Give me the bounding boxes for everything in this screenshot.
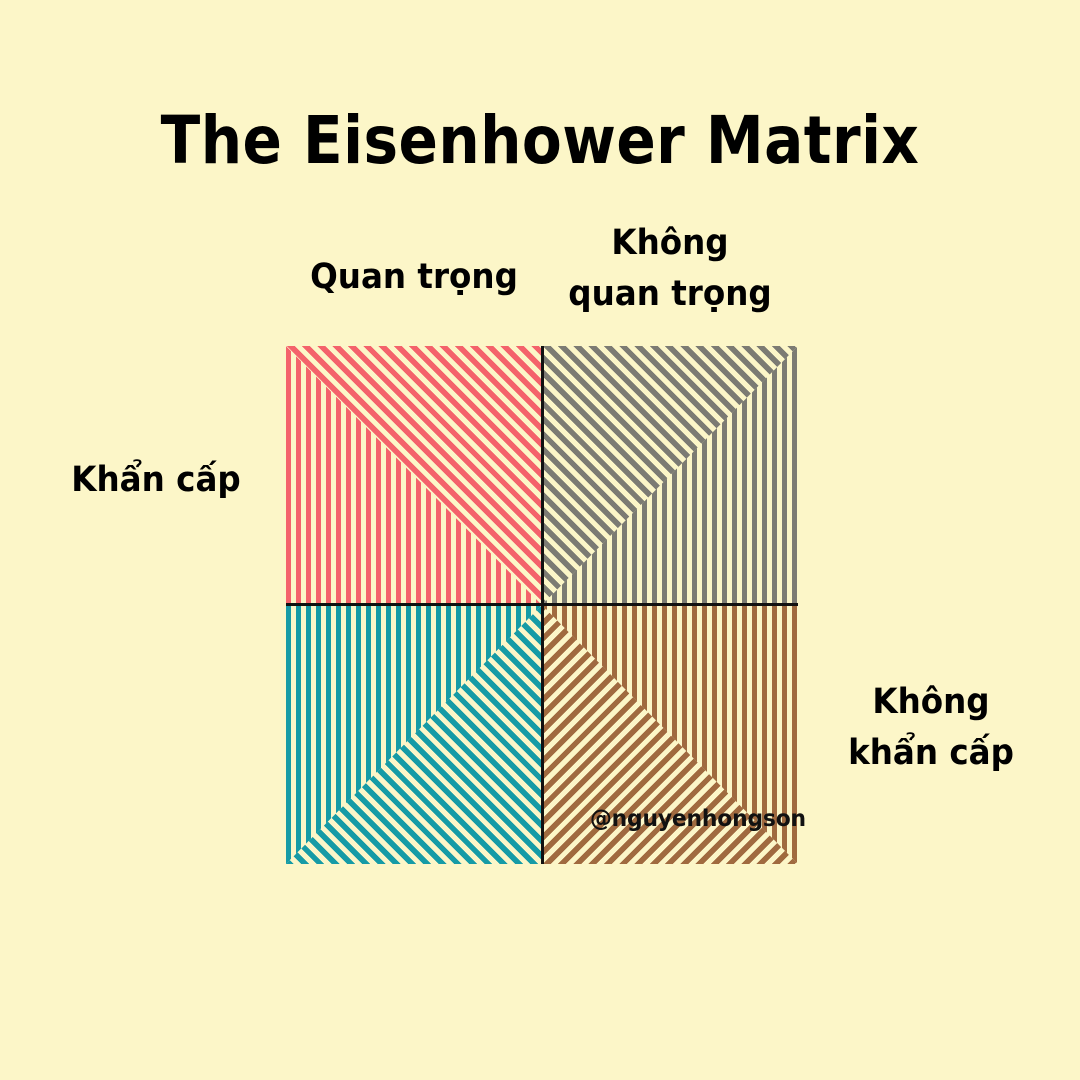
quadrant-urgent-not-important[interactable] xyxy=(542,346,798,605)
row-label-not-urgent-line1: Không xyxy=(815,677,1048,728)
quadrant-urgent-important-pattern xyxy=(286,346,542,605)
quadrant-urgent-not-important-pattern xyxy=(542,346,798,605)
matrix-horizontal-divider xyxy=(286,603,798,606)
page-title: The Eisenhower Matrix xyxy=(65,108,1015,174)
column-label-important-text: Quan trọng xyxy=(295,252,533,303)
quadrant-not-urgent-important-pattern xyxy=(286,605,542,864)
column-label-not-important-line2: quan trọng xyxy=(551,269,789,320)
row-label-urgent: Khẩn cấp xyxy=(44,455,267,506)
quadrant-urgent-important[interactable] xyxy=(286,346,542,605)
column-label-not-important-line1: Không xyxy=(551,218,789,269)
watermark-handle: @nguyenhongson xyxy=(590,806,806,832)
eisenhower-matrix: @nguyenhongson xyxy=(286,346,798,864)
row-label-urgent-text: Khẩn cấp xyxy=(44,455,267,506)
quadrant-not-urgent-important[interactable] xyxy=(286,605,542,864)
row-label-not-urgent: Không khẩn cấp xyxy=(815,677,1048,779)
row-label-not-urgent-line2: khẩn cấp xyxy=(815,728,1048,779)
column-label-not-important: Không quan trọng xyxy=(551,218,789,320)
column-label-important: Quan trọng xyxy=(295,252,533,303)
